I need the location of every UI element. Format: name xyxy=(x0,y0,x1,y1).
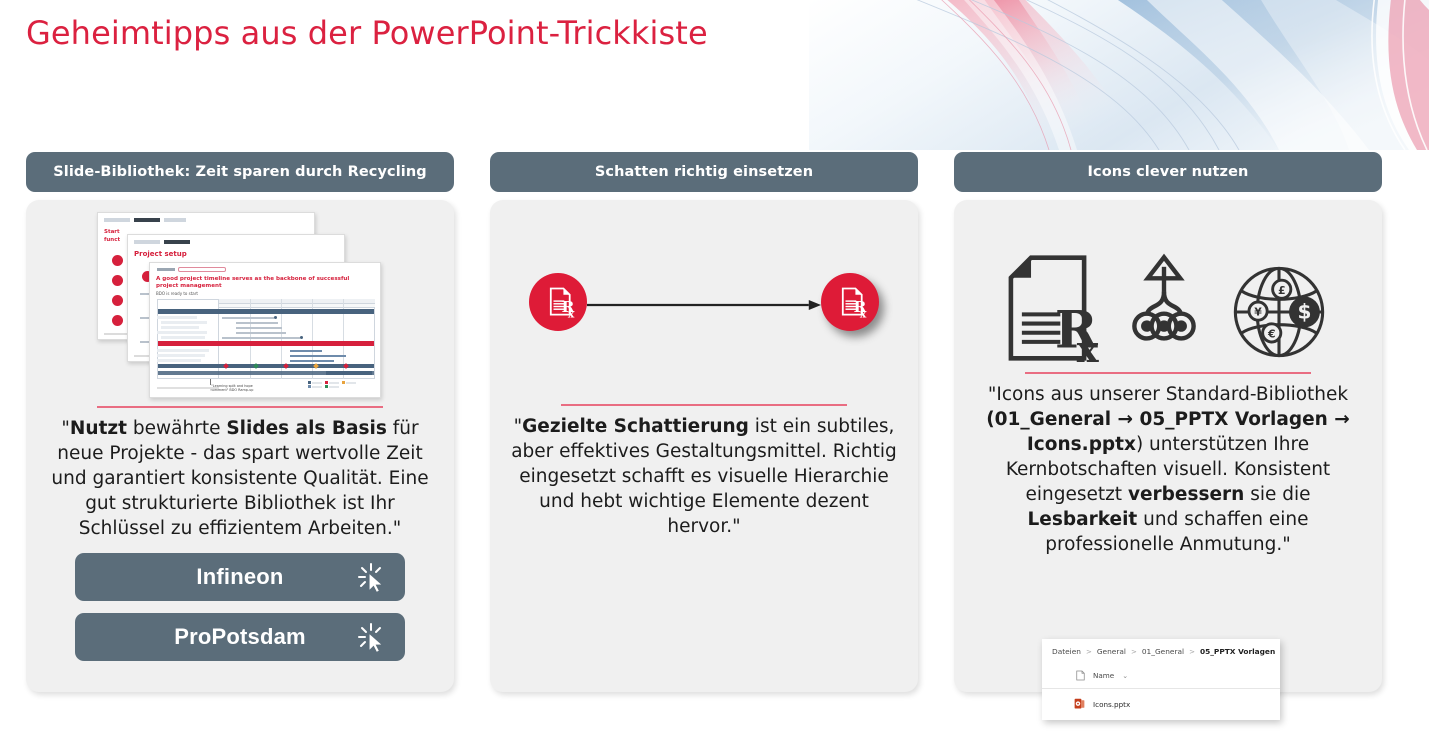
file-list-header[interactable]: Name ⌄ xyxy=(1042,663,1280,689)
list-item[interactable]: Icons.pptx xyxy=(1042,689,1280,720)
breadcrumb[interactable]: Dateien > General > 01_General > 05_PPTX… xyxy=(1042,639,1280,663)
arrow-right-icon xyxy=(587,296,821,308)
card-slide-library: Slide-Bibliothek: Zeit sparen durch Recy… xyxy=(26,152,454,692)
breadcrumb-separator: > xyxy=(1086,648,1092,656)
currency-gbp: £ xyxy=(1278,284,1286,297)
mini-slide-middle-title: Project setup xyxy=(134,251,328,258)
breadcrumb-item-current[interactable]: 05_PPTX Vorlagen xyxy=(1200,647,1275,656)
rx-document-icon: R x xyxy=(540,284,576,320)
file-explorer-widget[interactable]: Dateien > General > 01_General > 05_PPTX… xyxy=(1042,639,1280,720)
currency-usd: $ xyxy=(1297,299,1311,323)
swirl-graphic xyxy=(809,0,1429,150)
button-propotsdam-label: ProPotsdam xyxy=(174,624,306,650)
card-shadows: Schatten richtig einsetzen xyxy=(490,152,918,692)
quote-shadows: "Gezielte Schattierung ist ein subtiles,… xyxy=(504,414,904,539)
rx-document-icon-with-shadow: R x xyxy=(821,273,879,331)
mini-slide-front: A good project timeline serves as the ba… xyxy=(149,262,381,398)
globe-currency-icon: £ ¥ € $ xyxy=(1229,262,1329,362)
mini-slide-front-subtitle: BDO is ready to start xyxy=(156,291,198,296)
icon-library-showcase: R x xyxy=(968,206,1368,366)
page-title: Geheimtipps aus der PowerPoint-Trickkist… xyxy=(26,14,708,52)
svg-text:x: x xyxy=(568,307,575,320)
breadcrumb-item-1[interactable]: General xyxy=(1097,647,1126,656)
quote-icons: "Icons aus unserer Standard-Bibliothek (… xyxy=(968,382,1368,557)
breadcrumb-separator: > xyxy=(1131,648,1137,656)
click-cursor-icon xyxy=(355,560,389,594)
card-body-icons: R x xyxy=(954,200,1382,692)
file-name[interactable]: Icons.pptx xyxy=(1093,700,1130,709)
header-decorative-swirl xyxy=(809,0,1429,150)
chevron-down-icon[interactable]: ⌄ xyxy=(1122,672,1128,680)
breadcrumb-item-0[interactable]: Dateien xyxy=(1052,647,1081,656)
card-body-shadows: R x xyxy=(490,200,918,692)
card-header-shadows: Schatten richtig einsetzen xyxy=(490,152,918,192)
card-header-slide-library: Slide-Bibliothek: Zeit sparen durch Recy… xyxy=(26,152,454,192)
converging-arrows-icon xyxy=(1121,250,1207,362)
currency-jpy: ¥ xyxy=(1254,306,1262,319)
quote-slide-library: "Nutzt bewährte Slides als Basis für neu… xyxy=(40,416,440,541)
card-grid: Slide-Bibliothek: Zeit sparen durch Recy… xyxy=(26,152,1404,692)
card-divider xyxy=(1025,372,1311,374)
breadcrumb-separator: > xyxy=(1189,648,1195,656)
rx-document-icon-plain: R x xyxy=(529,273,587,331)
button-infineon[interactable]: Infineon xyxy=(75,553,405,601)
slide-library-visual: Start funct xyxy=(40,206,440,400)
column-header-name[interactable]: Name xyxy=(1093,671,1114,680)
currency-eur: € xyxy=(1267,327,1276,340)
rx-document-icon: R x xyxy=(832,284,868,320)
click-cursor-icon xyxy=(355,620,389,654)
rx-document-icon: R x xyxy=(1007,254,1099,362)
document-icon xyxy=(1076,670,1085,681)
card-header-icons: Icons clever nutzen xyxy=(954,152,1382,192)
card-divider xyxy=(561,404,847,406)
button-infineon-label: Infineon xyxy=(196,564,283,590)
card-body-slide-library: Start funct xyxy=(26,200,454,692)
card-divider xyxy=(97,406,383,408)
card-icons: Icons clever nutzen R x xyxy=(954,152,1382,692)
mini-slide-front-title: A good project timeline serves as the ba… xyxy=(156,276,363,290)
breadcrumb-item-2[interactable]: 01_General xyxy=(1142,647,1184,656)
shadow-comparison-diagram: R x xyxy=(504,206,904,398)
powerpoint-file-icon xyxy=(1074,698,1085,710)
svg-text:x: x xyxy=(1077,328,1099,362)
slide-library-thumbnail-stack: Start funct xyxy=(95,212,385,400)
button-propotsdam[interactable]: ProPotsdam xyxy=(75,613,405,661)
svg-text:x: x xyxy=(860,307,867,320)
